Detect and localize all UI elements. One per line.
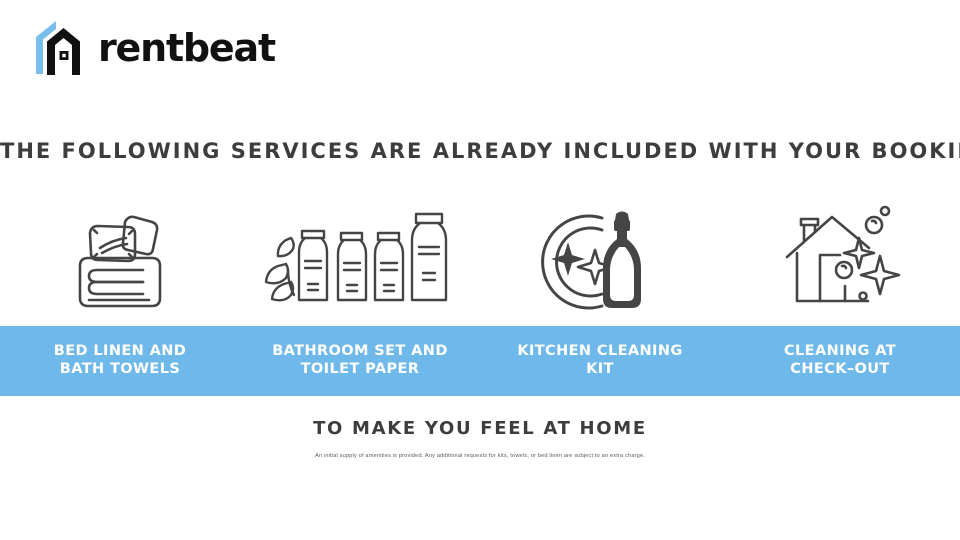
brand-logo[interactable]: rentbeat	[30, 18, 275, 78]
sparkling-house-icon	[779, 200, 901, 318]
brand-wordmark: rentbeat	[98, 29, 275, 67]
fineprint-disclaimer: An initial supply of amenities is provid…	[0, 453, 960, 459]
toiletry-bottles-with-leaves-icon	[264, 200, 456, 318]
service-label-band: BED LINEN AND BATH TOWELS BATHROOM SET A…	[0, 326, 960, 396]
service-label: BATHROOM SET AND TOILET PAPER	[272, 343, 448, 378]
service-label: BED LINEN AND BATH TOWELS	[54, 343, 187, 378]
service-icon-cell	[0, 196, 240, 322]
service-label-cell-3: CLEANING AT CHECK–OUT	[720, 326, 960, 396]
service-label: CLEANING AT CHECK–OUT	[784, 343, 896, 378]
tagline: TO MAKE YOU FEEL AT HOME	[0, 418, 960, 439]
service-label: KITCHEN CLEANING KIT	[517, 343, 682, 378]
service-icon-row	[0, 196, 960, 322]
page-title: THE FOLLOWING SERVICES ARE ALREADY INCLU…	[0, 139, 960, 163]
dish-soap-bottle-with-plates-icon	[540, 200, 660, 318]
folded-towels-with-pillows-icon	[64, 200, 176, 318]
service-label-cell-2: KITCHEN CLEANING KIT	[480, 326, 720, 396]
service-icon-cell	[720, 196, 960, 322]
service-icon-cell	[240, 196, 480, 322]
service-label-cell-0: BED LINEN AND BATH TOWELS	[0, 326, 240, 396]
slide-canvas: rentbeat THE FOLLOWING SERVICES ARE ALRE…	[0, 0, 960, 540]
service-label-cell-1: BATHROOM SET AND TOILET PAPER	[240, 326, 480, 396]
service-icon-cell	[480, 196, 720, 322]
house-logo-icon	[30, 18, 88, 78]
